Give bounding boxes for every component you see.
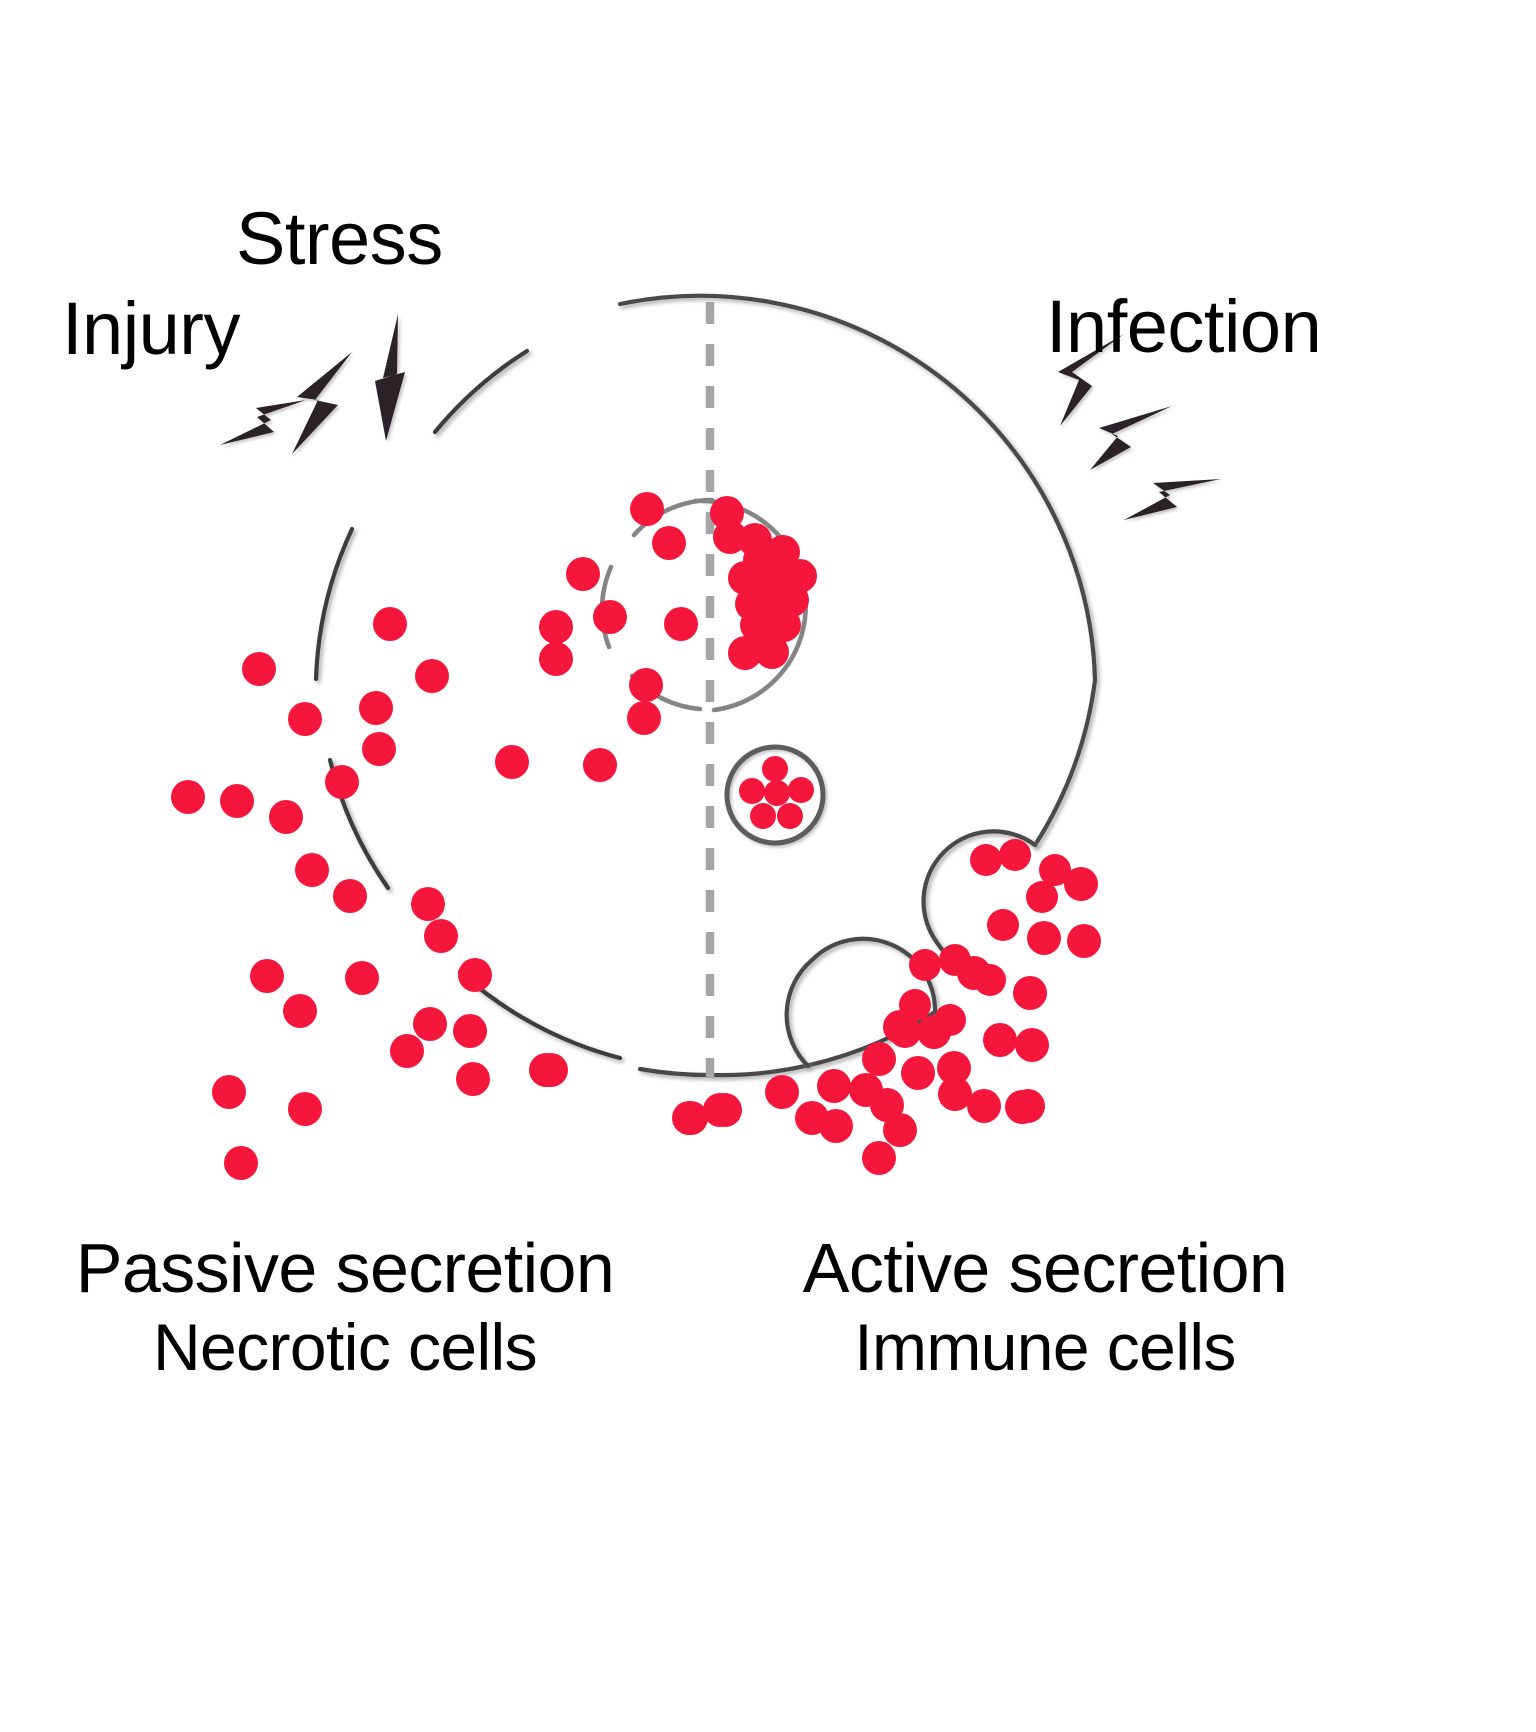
molecule-dot-vesicle — [762, 756, 788, 782]
molecule-dot-necrotic — [495, 745, 529, 779]
molecule-dot-necrotic — [288, 1092, 322, 1126]
molecule-dot-necrotic — [664, 607, 698, 641]
molecule-dot-secreted — [917, 1015, 951, 1049]
molecule-dot-necrotic — [458, 958, 492, 992]
injury-label: Injury — [62, 290, 240, 368]
molecule-dot-secreted — [1015, 1028, 1049, 1062]
molecule-dot-nucleus — [713, 520, 747, 554]
molecule-dot-necrotic — [295, 853, 329, 887]
molecule-dot-necrotic — [566, 557, 600, 591]
lightning-bolt-icon-left-1 — [375, 314, 405, 441]
molecule-dot-secreted — [883, 1113, 917, 1147]
molecule-dot-necrotic — [171, 780, 205, 814]
caption-right-line-2: Immune cells — [740, 1309, 1350, 1386]
stress-label: Stress — [236, 200, 443, 278]
cell-diagram-svg — [0, 0, 1536, 1732]
molecule-dot-vesicle-group — [739, 756, 814, 829]
lightning-bolt-icon-right-2 — [1090, 406, 1172, 470]
molecule-dot-secreted — [862, 1141, 896, 1175]
molecule-dot-necrotic — [288, 702, 322, 736]
molecule-dot-necrotic — [411, 887, 445, 921]
molecule-dot-necrotic — [652, 526, 686, 560]
molecule-dot-secreted — [967, 1089, 1001, 1123]
molecule-dot-secreted — [957, 956, 991, 990]
molecule-dot-necrotic — [345, 961, 379, 995]
molecule-dot-vesicle — [777, 803, 803, 829]
molecule-dot-necrotic — [529, 1053, 563, 1087]
molecule-dot-secreted — [1067, 924, 1101, 958]
molecule-dot-nucleus — [775, 583, 809, 617]
molecule-dot-secreted — [817, 1069, 851, 1103]
caption-passive-secretion: Passive secretion Necrotic cells — [30, 1228, 660, 1386]
molecule-dot-necrotic — [212, 1075, 246, 1109]
molecule-dot-necrotic — [583, 748, 617, 782]
lightning-bolt-icon-right-3 — [1124, 479, 1221, 520]
molecule-dot-necrotic — [539, 642, 573, 676]
molecule-dot-necrotic — [283, 994, 317, 1028]
molecule-dot-necrotic — [269, 800, 303, 834]
molecule-dot-secreted — [1027, 921, 1061, 955]
molecule-dot-necrotic — [413, 1007, 447, 1041]
molecule-dot-necrotic — [224, 1146, 258, 1180]
molecule-dot-secreted — [1064, 867, 1098, 901]
lightning-bolt-icon-left-3 — [220, 400, 306, 445]
necrotic-membrane-arc-1 — [435, 351, 527, 432]
molecule-dot-necrotic — [593, 600, 627, 634]
molecule-dot-secreted — [901, 1056, 935, 1090]
molecule-dot-secreted — [672, 1101, 706, 1135]
molecule-dot-necrotic — [456, 1062, 490, 1096]
molecule-dot-necrotic — [539, 610, 573, 644]
caption-left-line-2: Necrotic cells — [30, 1309, 660, 1386]
molecule-dot-bleb — [999, 839, 1031, 871]
molecule-dot-vesicle — [750, 803, 776, 829]
molecule-dot-bleb — [909, 949, 941, 981]
molecule-dot-nucleus — [743, 543, 777, 577]
molecule-dot-secreted — [1013, 976, 1047, 1010]
molecule-dot-bleb — [987, 909, 1019, 941]
molecule-dot-necrotic — [362, 732, 396, 766]
molecule-dot-necrotic — [627, 701, 661, 735]
molecule-dot-secreted — [819, 1109, 853, 1143]
molecule-dots-layer — [171, 492, 1101, 1180]
molecule-dot-necrotic — [424, 919, 458, 953]
immune-membrane-group — [620, 296, 1095, 1075]
molecule-dot-bleb — [1026, 881, 1058, 913]
molecule-dot-necrotic — [373, 607, 407, 641]
molecule-dot-secreted — [983, 1023, 1017, 1057]
molecule-dot-necrotic — [325, 765, 359, 799]
immune-membrane-right-arc — [1035, 680, 1095, 845]
molecule-dot-vesicle — [764, 780, 790, 806]
molecule-dot-necrotic — [333, 879, 367, 913]
molecule-dot-nucleus — [755, 635, 789, 669]
molecule-dot-secreted — [1011, 1089, 1045, 1123]
molecule-dot-necrotic — [415, 659, 449, 693]
caption-active-secretion: Active secretion Immune cells — [740, 1228, 1350, 1386]
molecule-dot-vesicle — [788, 777, 814, 803]
molecule-dot-secreted — [883, 1010, 917, 1044]
molecule-dot-secreted — [765, 1075, 799, 1109]
diagram-canvas: Stress Injury Infection Passive secretio… — [0, 0, 1536, 1732]
molecule-dot-secreted — [703, 1093, 737, 1127]
lightning-bolt-icon-left-2 — [292, 352, 352, 454]
molecule-dot-necrotic — [453, 1014, 487, 1048]
molecule-dot-bleb — [970, 844, 1002, 876]
molecule-dot-secreted — [938, 1077, 972, 1111]
molecule-dot-secreted-group — [672, 867, 1101, 1175]
lightning-bolt-group-left — [220, 314, 405, 454]
molecule-dot-necrotic — [242, 652, 276, 686]
caption-left-line-1: Passive secretion — [30, 1228, 660, 1309]
necrotic-membrane-arc-2 — [316, 529, 352, 679]
molecule-dot-necrotic-group — [171, 492, 742, 1180]
molecule-dot-secreted — [862, 1042, 896, 1076]
molecule-dot-necrotic — [359, 691, 393, 725]
infection-label: Infection — [1046, 288, 1321, 366]
caption-right-line-1: Active secretion — [740, 1228, 1350, 1309]
molecule-dot-necrotic — [220, 784, 254, 818]
molecule-dot-necrotic — [250, 959, 284, 993]
molecule-dot-necrotic — [629, 668, 663, 702]
immune-membrane-bottom-left-arc — [640, 1069, 710, 1075]
molecule-dot-necrotic — [390, 1034, 424, 1068]
molecule-dot-vesicle — [739, 778, 765, 804]
molecule-dot-necrotic — [630, 492, 664, 526]
